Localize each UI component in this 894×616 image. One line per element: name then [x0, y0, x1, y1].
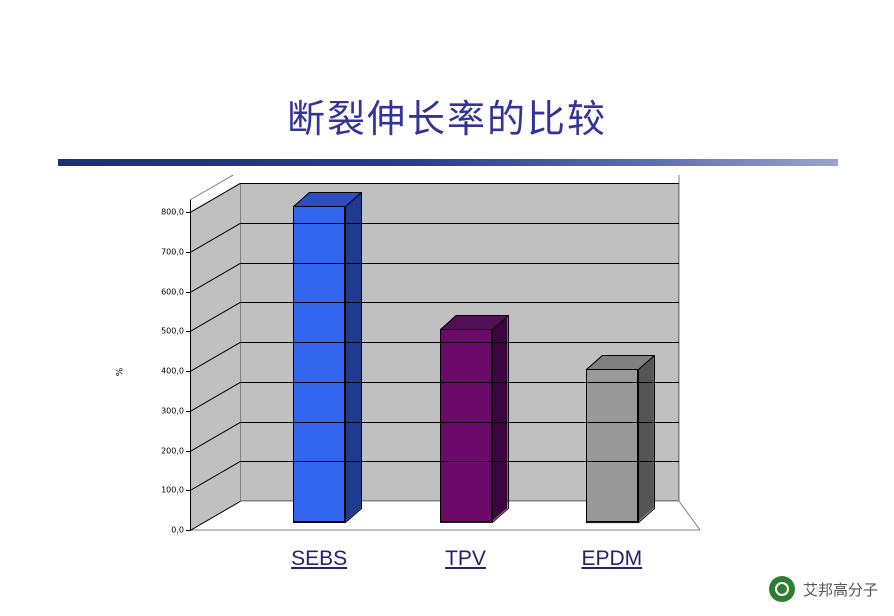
y-axis-tick-label: 500,0	[140, 327, 184, 336]
y-axis-tick-label: 300,0	[140, 406, 184, 415]
watermark-label: 艾邦高分子	[803, 579, 878, 600]
bar-epdm	[586, 369, 638, 522]
slide-canvas: 断裂伸长率的比较 0,0100,0200,0300,0400,0500,0600…	[0, 0, 894, 616]
bar-front-face	[440, 329, 492, 522]
bar-side-face	[492, 315, 508, 522]
y-axis-ticks: 0,0100,0200,0300,0400,0500,0600,0700,080…	[120, 175, 184, 545]
bar-chart-3d: 0,0100,0200,0300,0400,0500,0600,0700,080…	[120, 175, 720, 545]
gridline	[240, 342, 679, 343]
watermark: 艾邦高分子	[769, 576, 878, 602]
bar-front-face	[293, 206, 345, 522]
y-axis-tick-label: 0,0	[140, 526, 184, 535]
gridline	[240, 382, 679, 383]
y-axis-title: %	[115, 368, 125, 377]
category-label-sebs: SEBS	[263, 547, 375, 571]
gridline	[240, 263, 679, 264]
y-axis-tick-label: 100,0	[140, 486, 184, 495]
wechat-round-logo-icon	[769, 576, 795, 602]
bar-tpv	[440, 329, 492, 522]
y-axis-tick-label: 800,0	[140, 208, 184, 217]
bar-side-face	[638, 355, 654, 522]
gridline	[240, 302, 679, 303]
y-axis-tick-label: 200,0	[140, 446, 184, 455]
category-label-epdm: EPDM	[556, 547, 668, 571]
bar-side-face	[345, 192, 361, 522]
y-axis-tick-label: 600,0	[140, 287, 184, 296]
gridline	[240, 183, 679, 184]
bar-sebs	[293, 206, 345, 522]
gridline	[240, 461, 679, 462]
gridline	[240, 422, 679, 423]
y-axis-tick-label: 700,0	[140, 247, 184, 256]
category-label-tpv: TPV	[410, 547, 522, 571]
y-axis-tick-label: 400,0	[140, 367, 184, 376]
gridline	[240, 223, 679, 224]
title-divider-rule	[58, 159, 838, 166]
bar-front-face	[586, 369, 638, 522]
page-title: 断裂伸长率的比较	[0, 88, 894, 143]
